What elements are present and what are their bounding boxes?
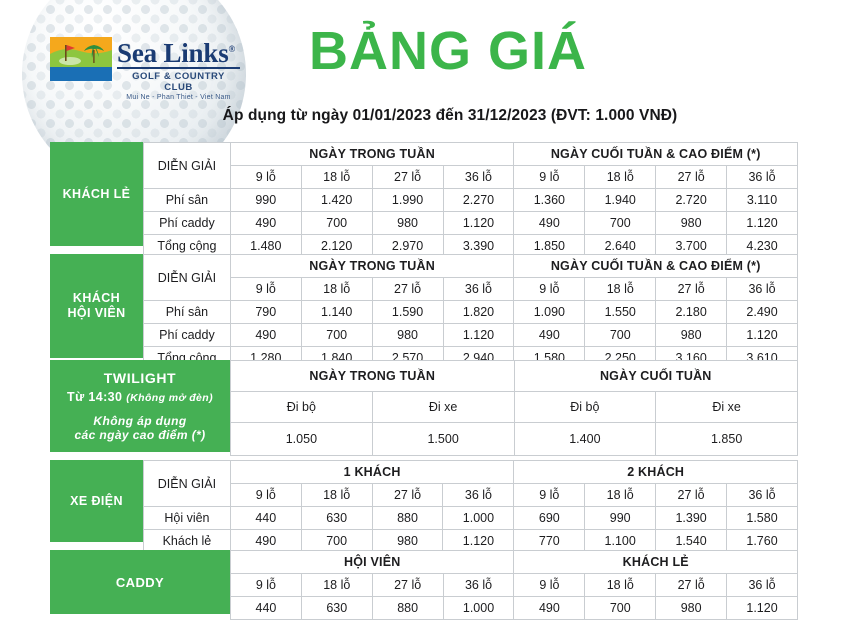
page-subtitle: Áp dụng từ ngày 01/01/2023 đến 31/12/202…: [120, 107, 780, 125]
twilight-time-note: (Không mở đèn): [126, 392, 213, 404]
cell-value: 700: [585, 324, 656, 347]
col-header-27-weekday: 27 lỗ: [372, 166, 443, 189]
price-table-twilight: NGÀY TRONG TUẦN NGÀY CUỐI TUẦN Đi bộ Đi …: [230, 360, 798, 456]
col-header-27-one: 27 lỗ: [372, 484, 443, 507]
row-label: Phí caddy: [144, 324, 231, 347]
cell-value: 440: [231, 597, 302, 620]
cell-value: 3.110: [727, 189, 798, 212]
logo-location: Mui Ne - Phan Thiet - Viet Nam: [117, 94, 240, 101]
cell-value: 490: [514, 597, 585, 620]
col-header-27-two: 27 lỗ: [656, 484, 727, 507]
group-header-weekend: NGÀY CUỐI TUẦN & CAO ĐIỂM (*): [514, 143, 798, 166]
cell-value: 1.940: [585, 189, 656, 212]
col-header-27-guest: 27 lỗ: [656, 574, 727, 597]
cell-value: 980: [656, 324, 727, 347]
twilight-note-line-2: các ngày cao điểm (*): [74, 428, 205, 442]
col-header-9-guest: 9 lỗ: [514, 574, 585, 597]
col-header-36-weekend: 36 lỗ: [727, 278, 798, 301]
table-subheader-row: 9 lỗ 18 lỗ 27 lỗ 36 lỗ 9 lỗ 18 lỗ 27 lỗ …: [231, 574, 798, 597]
group-header-weekend: NGÀY CUỐI TUẦN & CAO ĐIỂM (*): [514, 255, 798, 278]
section-caption-twilight: TWILIGHT Từ 14:30 (Không mở đèn) Không á…: [50, 360, 230, 452]
col-header-18-weekend: 18 lỗ: [585, 166, 656, 189]
col-header-27-member: 27 lỗ: [372, 574, 443, 597]
table-header-row: DIỄN GIẢI 1 KHÁCH 2 KHÁCH: [144, 461, 798, 484]
cell-value: 490: [230, 212, 301, 235]
twilight-time: Từ 14:30 (Không mở đèn): [67, 390, 213, 406]
caption-line-1: KHÁCH: [73, 291, 120, 306]
section-caption-xe-dien: XE ĐIỆN: [50, 460, 143, 542]
col-header-27-weekend: 27 lỗ: [656, 278, 727, 301]
table-subheader-row: 9 lỗ 18 lỗ 27 lỗ 36 lỗ 9 lỗ 18 lỗ 27 lỗ …: [144, 278, 798, 301]
row-label: Phí caddy: [144, 212, 231, 235]
table-row: Phí sân 990 1.420 1.990 2.270 1.360 1.94…: [144, 189, 798, 212]
col-header-dien-giai: DIỄN GIẢI: [144, 461, 231, 507]
cell-value: 2.180: [656, 301, 727, 324]
price-table-khach-hoi-vien: DIỄN GIẢI NGÀY TRONG TUẦN NGÀY CUỐI TUẦN…: [143, 254, 798, 370]
cell-value: 880: [372, 507, 443, 530]
cell-value: 1.120: [727, 212, 798, 235]
cell-value: 630: [301, 507, 372, 530]
row-label: Phí sân: [144, 189, 231, 212]
cell-value: 880: [372, 597, 443, 620]
cell-value: 1.120: [727, 597, 798, 620]
price-table-xe-dien: DIỄN GIẢI 1 KHÁCH 2 KHÁCH 9 lỗ 18 lỗ 27 …: [143, 460, 798, 553]
cell-value: 1.120: [443, 212, 514, 235]
table-row: Phí caddy 490 700 980 1.120 490 700 980 …: [144, 324, 798, 347]
col-header-36-guest: 36 lỗ: [727, 574, 798, 597]
col-header-18-weekday: 18 lỗ: [301, 166, 372, 189]
col-header-9-one: 9 lỗ: [230, 484, 301, 507]
group-header-hoi-vien: HỘI VIÊN: [231, 551, 514, 574]
table-subheader-row: Đi bộ Đi xe Đi bộ Đi xe: [231, 392, 798, 423]
cell-value: 490: [514, 212, 585, 235]
col-header-dien-giai: DIỄN GIẢI: [144, 143, 231, 189]
cell-value: 1.120: [443, 324, 514, 347]
logo-subtitle: GOLF & COUNTRY CLUB: [117, 71, 240, 93]
col-header-mode-weekend-cart: Đi xe: [656, 392, 798, 423]
cell-value: 1.360: [514, 189, 585, 212]
twilight-note: Không áp dụng các ngày cao điểm (*): [74, 414, 205, 442]
table-subheader-row: 9 lỗ 18 lỗ 27 lỗ 36 lỗ 9 lỗ 18 lỗ 27 lỗ …: [144, 166, 798, 189]
table-header-row: DIỄN GIẢI NGÀY TRONG TUẦN NGÀY CUỐI TUẦN…: [144, 143, 798, 166]
cell-value: 690: [514, 507, 585, 530]
cell-value: 1.000: [443, 507, 514, 530]
col-header-36-weekday: 36 lỗ: [443, 278, 514, 301]
col-header-mode-weekday-walk: Đi bộ: [231, 392, 373, 423]
table-row: 1.050 1.500 1.400 1.850: [231, 423, 798, 456]
col-header-mode-weekday-cart: Đi xe: [372, 392, 514, 423]
group-header-weekday: NGÀY TRONG TUẦN: [230, 143, 514, 166]
col-header-9-weekday: 9 lỗ: [230, 278, 301, 301]
group-header-weekday: NGÀY TRONG TUẦN: [230, 255, 514, 278]
col-header-9-weekend: 9 lỗ: [514, 166, 585, 189]
group-header-weekend: NGÀY CUỐI TUẦN: [514, 361, 798, 392]
registered-mark: ®: [229, 44, 236, 54]
cell-value: 1.420: [301, 189, 372, 212]
table-header-row: DIỄN GIẢI NGÀY TRONG TUẦN NGÀY CUỐI TUẦN…: [144, 255, 798, 278]
row-label: Hội viên: [144, 507, 231, 530]
cell-value: 1.400: [514, 423, 656, 456]
cell-value: 630: [301, 597, 372, 620]
twilight-note-line-1: Không áp dụng: [74, 414, 205, 428]
col-header-27-weekday: 27 lỗ: [372, 278, 443, 301]
cell-value: 490: [514, 324, 585, 347]
section-khach-le: KHÁCH LẺ DIỄN GIẢI NGÀY TRONG TUẦN NGÀY …: [50, 142, 798, 258]
col-header-18-two: 18 lỗ: [585, 484, 656, 507]
twilight-time-value: Từ 14:30: [67, 390, 122, 404]
cell-value: 790: [230, 301, 301, 324]
table-row: 440 630 880 1.000 490 700 980 1.120: [231, 597, 798, 620]
section-khach-hoi-vien: KHÁCH HỘI VIÊN DIỄN GIẢI NGÀY TRONG TUẦN…: [50, 254, 798, 370]
col-header-mode-weekend-walk: Đi bộ: [514, 392, 656, 423]
cell-value: 700: [301, 212, 372, 235]
cell-value: 1.590: [372, 301, 443, 324]
price-table-khach-le: DIỄN GIẢI NGÀY TRONG TUẦN NGÀY CUỐI TUẦN…: [143, 142, 798, 258]
cell-value: 1.000: [443, 597, 514, 620]
cell-value: 1.120: [727, 324, 798, 347]
table-subheader-row: 9 lỗ 18 lỗ 27 lỗ 36 lỗ 9 lỗ 18 lỗ 27 lỗ …: [144, 484, 798, 507]
cell-value: 700: [585, 597, 656, 620]
cell-value: 990: [585, 507, 656, 530]
col-header-36-weekend: 36 lỗ: [727, 166, 798, 189]
col-header-18-guest: 18 lỗ: [585, 574, 656, 597]
section-xe-dien: XE ĐIỆN DIỄN GIẢI 1 KHÁCH 2 KHÁCH 9 lỗ 1…: [50, 460, 798, 553]
twilight-title: TWILIGHT: [104, 371, 176, 386]
col-header-18-weekend: 18 lỗ: [585, 278, 656, 301]
col-header-36-member: 36 lỗ: [443, 574, 514, 597]
price-table-caddy: HỘI VIÊN KHÁCH LẺ 9 lỗ 18 lỗ 27 lỗ 36 lỗ…: [230, 550, 798, 620]
col-header-36-weekday: 36 lỗ: [443, 166, 514, 189]
page-title: BẢNG GIÁ: [258, 22, 638, 80]
group-header-two-guest: 2 KHÁCH: [514, 461, 798, 484]
cell-value: 490: [230, 324, 301, 347]
col-header-27-weekend: 27 lỗ: [656, 166, 727, 189]
page-header: Sea Links® GOLF & COUNTRY CLUB Mui Ne - …: [0, 0, 848, 140]
cell-value: 1.550: [585, 301, 656, 324]
cell-value: 700: [585, 212, 656, 235]
cell-value: 1.140: [301, 301, 372, 324]
section-caption-caddy: CADDY: [50, 550, 230, 614]
col-header-18-one: 18 lỗ: [301, 484, 372, 507]
cell-value: 2.270: [443, 189, 514, 212]
col-header-dien-giai: DIỄN GIẢI: [144, 255, 231, 301]
col-header-9-weekend: 9 lỗ: [514, 278, 585, 301]
section-twilight: TWILIGHT Từ 14:30 (Không mở đèn) Không á…: [50, 360, 798, 456]
col-header-9-member: 9 lỗ: [231, 574, 302, 597]
col-header-9-two: 9 lỗ: [514, 484, 585, 507]
section-caddy: CADDY HỘI VIÊN KHÁCH LẺ 9 lỗ 18 lỗ 27 lỗ…: [50, 550, 798, 620]
group-header-weekday: NGÀY TRONG TUẦN: [231, 361, 515, 392]
cell-value: 700: [301, 324, 372, 347]
cell-value: 2.490: [727, 301, 798, 324]
col-header-36-two: 36 lỗ: [727, 484, 798, 507]
table-header-row: NGÀY TRONG TUẦN NGÀY CUỐI TUẦN: [231, 361, 798, 392]
col-header-9-weekday: 9 lỗ: [230, 166, 301, 189]
caption-line-2: HỘI VIÊN: [67, 306, 125, 321]
cell-value: 1.090: [514, 301, 585, 324]
section-caption-khach-hoi-vien: KHÁCH HỘI VIÊN: [50, 254, 143, 358]
table-row: Phí sân 790 1.140 1.590 1.820 1.090 1.55…: [144, 301, 798, 324]
col-header-18-weekday: 18 lỗ: [301, 278, 372, 301]
col-header-18-member: 18 lỗ: [301, 574, 372, 597]
group-header-one-guest: 1 KHÁCH: [230, 461, 514, 484]
cell-value: 440: [230, 507, 301, 530]
cell-value: 980: [372, 212, 443, 235]
table-header-row: HỘI VIÊN KHÁCH LẺ: [231, 551, 798, 574]
cell-value: 980: [656, 597, 727, 620]
table-row: Phí caddy 490 700 980 1.120 490 700 980 …: [144, 212, 798, 235]
cell-value: 980: [656, 212, 727, 235]
cell-value: 1.500: [372, 423, 514, 456]
cell-value: 990: [230, 189, 301, 212]
cell-value: 1.050: [231, 423, 373, 456]
cell-value: 1.390: [656, 507, 727, 530]
col-header-36-one: 36 lỗ: [443, 484, 514, 507]
cell-value: 1.580: [727, 507, 798, 530]
cell-value: 980: [372, 324, 443, 347]
logo-mark-icon: [50, 37, 112, 81]
cell-value: 1.850: [656, 423, 798, 456]
row-label: Phí sân: [144, 301, 231, 324]
cell-value: 2.720: [656, 189, 727, 212]
cell-value: 1.820: [443, 301, 514, 324]
group-header-khach-le: KHÁCH LẺ: [514, 551, 798, 574]
table-row: Hội viên 440 630 880 1.000 690 990 1.390…: [144, 507, 798, 530]
cell-value: 1.990: [372, 189, 443, 212]
section-caption-khach-le: KHÁCH LẺ: [50, 142, 143, 246]
logo-brand-text: Sea Links®: [117, 36, 240, 66]
sea-links-logo: Sea Links® GOLF & COUNTRY CLUB Mui Ne - …: [50, 36, 240, 94]
